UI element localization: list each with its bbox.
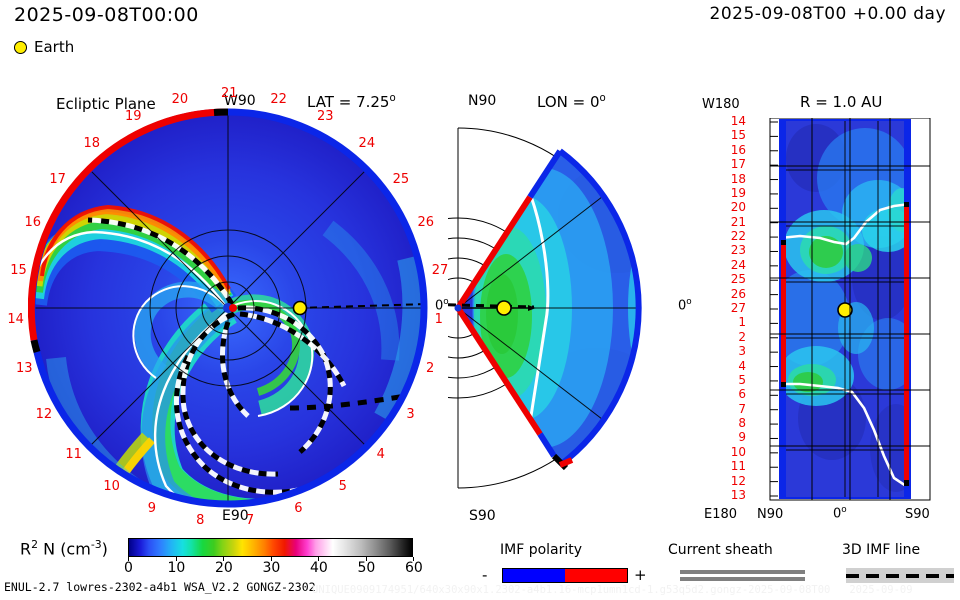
imf-line-dash xyxy=(846,574,954,578)
carrington-hour-label-1: 1 xyxy=(435,313,443,326)
earth-legend: Earth xyxy=(14,38,74,56)
radial-y-tick-20: 20 xyxy=(724,201,746,213)
carrington-hour-label-3: 3 xyxy=(406,408,414,421)
earth-marker-ecliptic xyxy=(294,302,307,315)
colorbar-label-mid: N (cm xyxy=(38,539,91,558)
radial-y-tick-21: 21 xyxy=(724,216,746,228)
colorbar-label-suffix: ) xyxy=(102,539,108,558)
colorbar-tick-label-50: 50 xyxy=(358,560,376,576)
sun-marker-meridional xyxy=(455,305,462,312)
radial-bottom-left-label: E180 xyxy=(704,507,737,522)
carrington-hour-label-16: 16 xyxy=(25,216,42,229)
carrington-hour-label-26: 26 xyxy=(417,216,434,229)
carrington-hour-label-4: 4 xyxy=(377,448,385,461)
carrington-hour-label-19: 19 xyxy=(125,110,142,123)
current-sheath-legend-title: Current sheath xyxy=(668,542,773,558)
radial-y-tick-19: 19 xyxy=(724,187,746,199)
radial-y-tick-14: 14 xyxy=(724,115,746,127)
radial-y-tick-17: 17 xyxy=(724,158,746,170)
meridional-left-axis-label: 0o xyxy=(435,297,449,313)
carrington-hour-label-10: 10 xyxy=(103,480,120,493)
colorbar-tick-label-30: 30 xyxy=(263,560,281,576)
credit-text: ENUL-2.7 lowres-2302-a4b1 WSA_V2.2 GONGZ… xyxy=(4,580,316,594)
colorbar-tick-label-60: 60 xyxy=(405,560,423,576)
earth-legend-label: Earth xyxy=(34,38,74,56)
radial-y-tick-2: 2 xyxy=(724,331,746,343)
radial-y-tick-23: 23 xyxy=(724,244,746,256)
imf-minus-label: - xyxy=(482,566,487,584)
ecliptic-plane-plot xyxy=(28,108,428,508)
radial-x-tick-n90: N90 xyxy=(757,507,783,522)
carrington-hour-label-23: 23 xyxy=(317,110,334,123)
carrington-hour-label-13: 13 xyxy=(16,362,33,375)
radial-y-tick-24: 24 xyxy=(724,259,746,271)
radial-y-tick-5: 5 xyxy=(724,374,746,386)
datetime-label-left: 2025-09-08T00:00 xyxy=(14,4,199,26)
radial-y-tick-22: 22 xyxy=(724,230,746,242)
radial-y-tick-4: 4 xyxy=(724,360,746,372)
imf-polarity-swatch xyxy=(502,568,628,583)
ecliptic-bottom-label: E90 xyxy=(222,508,249,524)
earth-marker-icon xyxy=(14,41,27,54)
carrington-hour-label-9: 9 xyxy=(148,502,156,515)
imf-plus-label: + xyxy=(634,566,647,584)
radial-top-left-label: W180 xyxy=(702,97,740,112)
colorbar-label: R2 N (cm-3) xyxy=(20,538,108,558)
datetime-label-right: 2025-09-08T00 +0.00 day xyxy=(710,4,946,24)
imf-line-swatch xyxy=(846,568,954,583)
carrington-hour-label-11: 11 xyxy=(65,448,82,461)
radial-y-tick-7: 7 xyxy=(724,403,746,415)
carrington-hour-label-17: 17 xyxy=(49,173,66,186)
degree-sup-lon: o xyxy=(600,93,606,104)
radial-y-tick-15: 15 xyxy=(724,129,746,141)
colorbar-tick-label-10: 10 xyxy=(168,560,186,576)
earth-marker-meridional xyxy=(497,301,511,315)
radial-y-tick-25: 25 xyxy=(724,273,746,285)
carrington-hour-label-20: 20 xyxy=(172,93,189,106)
current-sheath-swatch xyxy=(680,568,805,583)
colorbar-tick-label-20: 20 xyxy=(215,560,233,576)
carrington-hour-label-22: 22 xyxy=(270,93,287,106)
carrington-hour-label-14: 14 xyxy=(7,313,24,326)
radial-x-tick-zero: 0o xyxy=(833,505,847,521)
meridional-plane-plot xyxy=(448,108,688,508)
watermark-text: UNIQUE0909174951/640x30x90x1.2302-a4b1.1… xyxy=(312,584,913,596)
radius-title: R = 1.0 AU xyxy=(800,93,882,111)
radial-y-tick-11: 11 xyxy=(724,460,746,472)
colorbar-label-exp: 2 xyxy=(31,538,38,551)
ecliptic-svg xyxy=(28,108,428,508)
colorbar-label-r: R xyxy=(20,539,31,558)
meridional-bottom-label: S90 xyxy=(469,508,496,524)
carrington-hour-label-7: 7 xyxy=(246,514,254,527)
radial-y-tick-8: 8 xyxy=(724,417,746,429)
sun-marker xyxy=(223,303,237,313)
radial-x-tick-s90: S90 xyxy=(905,507,930,522)
degree-sup: o xyxy=(389,93,395,104)
meridional-svg xyxy=(448,108,688,508)
radial-y-tick-12: 12 xyxy=(724,475,746,487)
radial-y-tick-9: 9 xyxy=(724,431,746,443)
carrington-hour-label-27: 27 xyxy=(432,264,449,277)
radial-y-tick-1: 1 xyxy=(724,316,746,328)
carrington-hour-label-2: 2 xyxy=(426,362,434,375)
imf-line-legend-title: 3D IMF line xyxy=(842,542,920,558)
radial-y-tick-16: 16 xyxy=(724,144,746,156)
radial-y-tick-6: 6 xyxy=(724,388,746,400)
radial-y-tick-10: 10 xyxy=(724,446,746,458)
degree-sup-rx: o xyxy=(841,505,846,515)
carrington-hour-label-18: 18 xyxy=(83,137,100,150)
radial-y-tick-3: 3 xyxy=(724,345,746,357)
carrington-hour-label-6: 6 xyxy=(294,502,302,515)
radial-y-tick-13: 13 xyxy=(724,489,746,501)
radial-y-tick-26: 26 xyxy=(724,288,746,300)
colorbar xyxy=(128,538,413,557)
colorbar-tick-label-40: 40 xyxy=(310,560,328,576)
radial-y-tick-27: 27 xyxy=(724,302,746,314)
carrington-hour-label-12: 12 xyxy=(36,408,53,421)
carrington-hour-label-24: 24 xyxy=(359,137,376,150)
carrington-hour-label-21: 21 xyxy=(221,87,238,100)
radial-y-tick-18: 18 xyxy=(724,173,746,185)
imf-polarity-legend-title: IMF polarity xyxy=(500,542,582,558)
meridional-top-label: N90 xyxy=(468,93,496,109)
carrington-hour-label-25: 25 xyxy=(393,173,410,186)
colorbar-tick-label-0: 0 xyxy=(124,560,133,576)
carrington-hour-label-5: 5 xyxy=(339,480,347,493)
carrington-hour-label-15: 15 xyxy=(10,264,27,277)
carrington-hour-label-8: 8 xyxy=(196,514,204,527)
colorbar-label-exp2: -3 xyxy=(91,538,102,551)
